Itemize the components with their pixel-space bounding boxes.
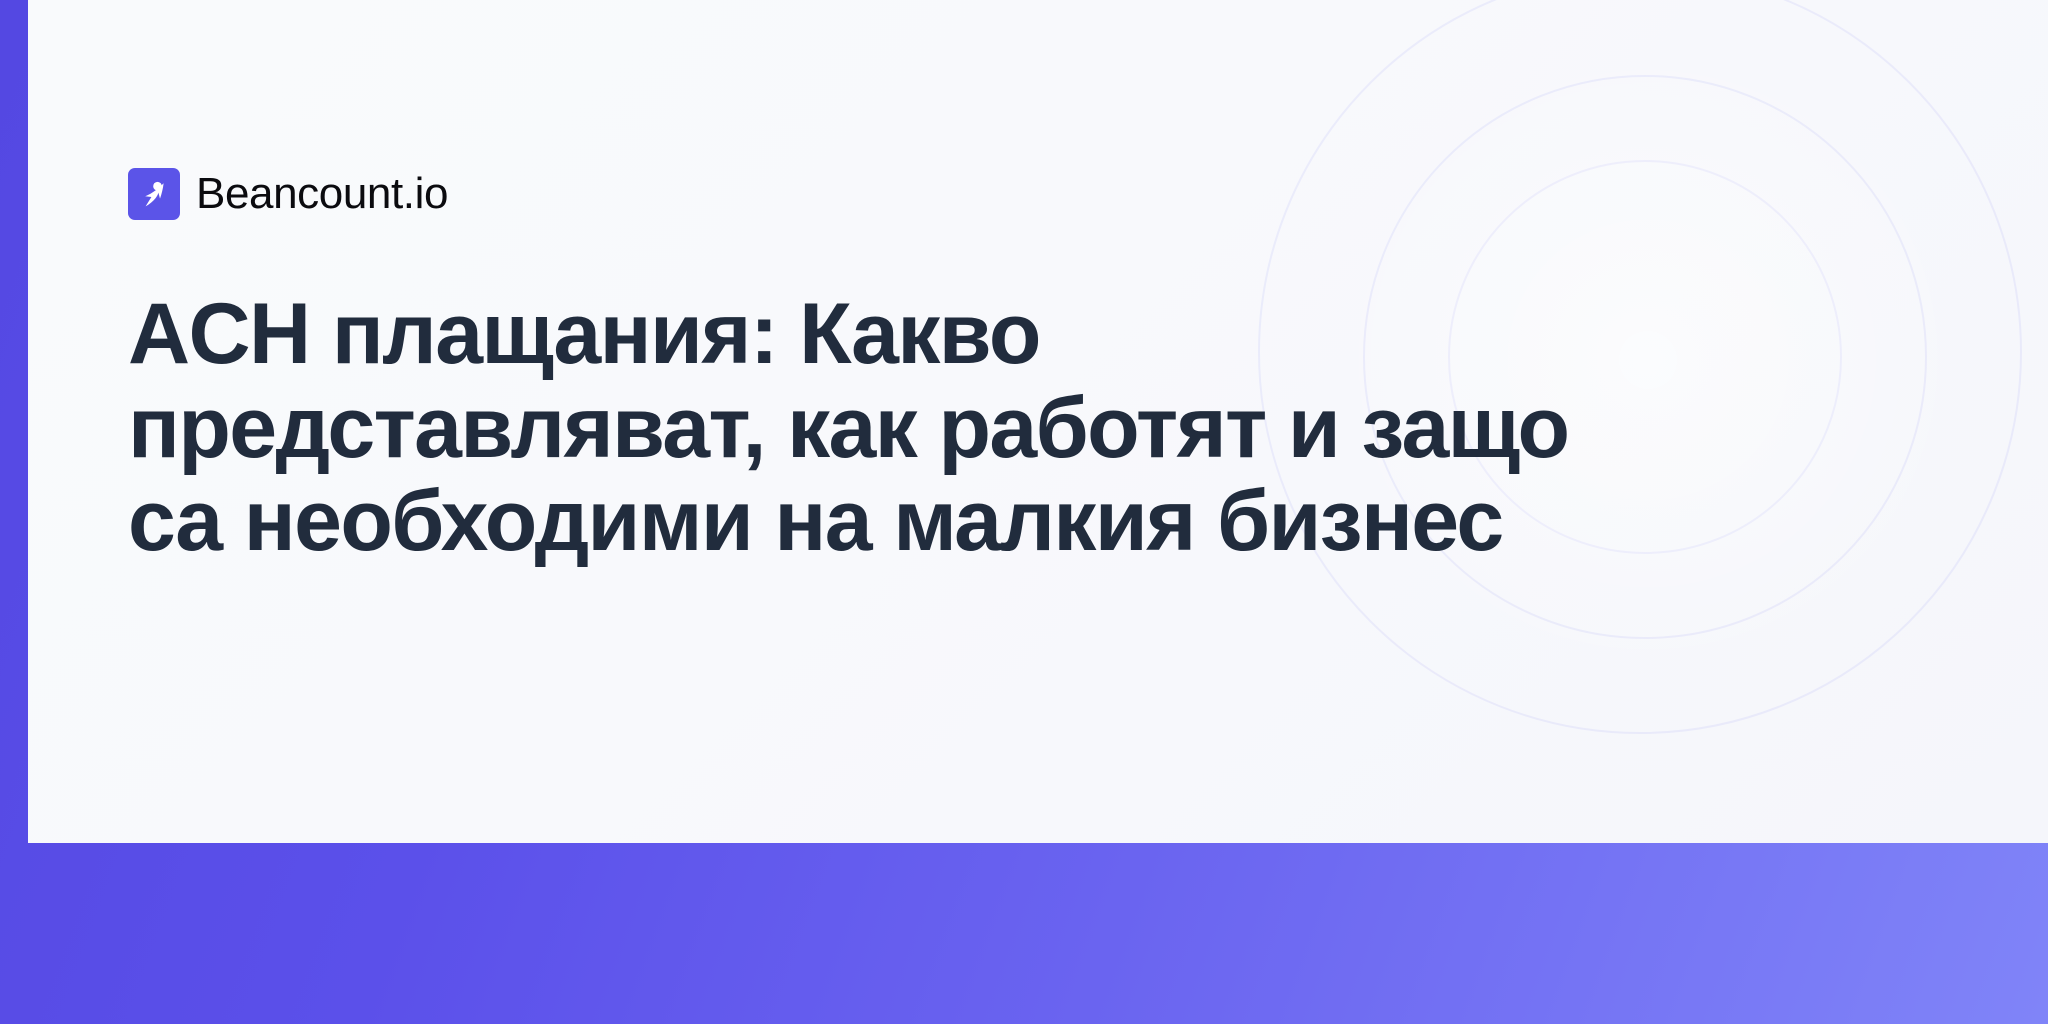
page-title-line-3: са необходими на малкия бизнес	[128, 475, 1928, 569]
page-title-line-2: представляват, как работят и защо	[128, 382, 1928, 476]
og-image-canvas: Beancount.io ACH плащания: Какво предста…	[0, 0, 2048, 1024]
running-person-icon	[128, 168, 180, 220]
brand-name: Beancount.io	[196, 172, 448, 216]
brand-lockup[interactable]: Beancount.io	[128, 170, 448, 218]
content-card: Beancount.io ACH плащания: Какво предста…	[28, 0, 2048, 843]
page-title: ACH плащания: Какво представляват, как р…	[128, 288, 1928, 569]
page-title-line-1: ACH плащания: Какво	[128, 288, 1928, 382]
